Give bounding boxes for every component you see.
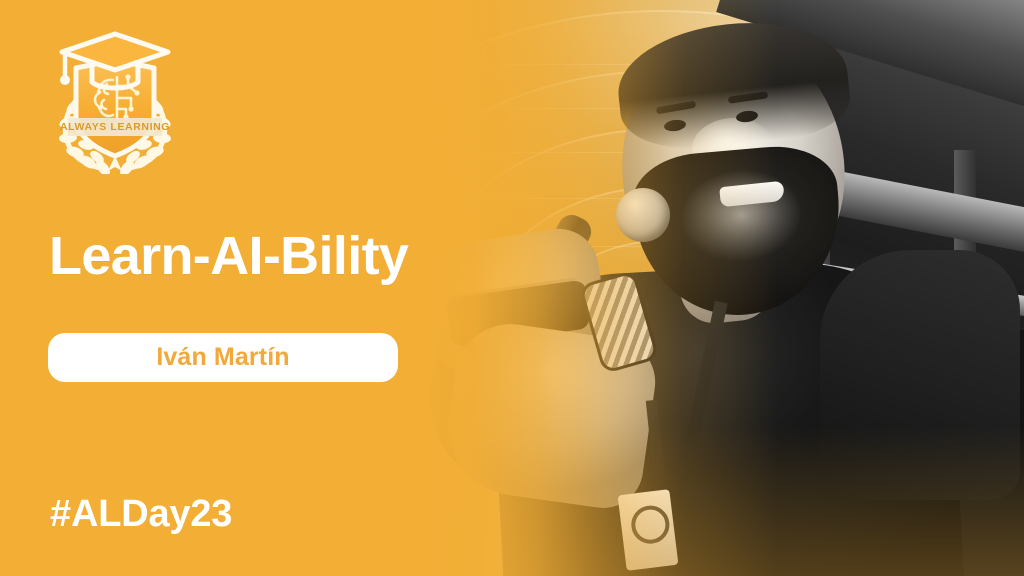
always-learning-logo: ALWAYS LEARNING xyxy=(40,24,190,174)
shield-shape xyxy=(76,60,154,156)
event-hashtag: #ALDay23 xyxy=(50,495,232,533)
slide-title: Learn-AI-Bility xyxy=(49,228,408,285)
microphone-head xyxy=(616,188,670,242)
speaker-name-pill: Iván Martín xyxy=(48,333,398,382)
speaker-name: Iván Martín xyxy=(156,345,289,370)
speaker-figure xyxy=(300,0,1024,576)
speaker-photo xyxy=(300,0,1024,576)
conference-badge xyxy=(618,489,679,571)
banner-text: ALWAYS LEARNING xyxy=(60,121,170,133)
pointing-finger-lower xyxy=(420,116,533,210)
presentation-slide: ALWAYS LEARNING Learn-AI-Bility Iván Mar… xyxy=(0,0,1024,576)
right-shoulder xyxy=(820,250,1020,500)
